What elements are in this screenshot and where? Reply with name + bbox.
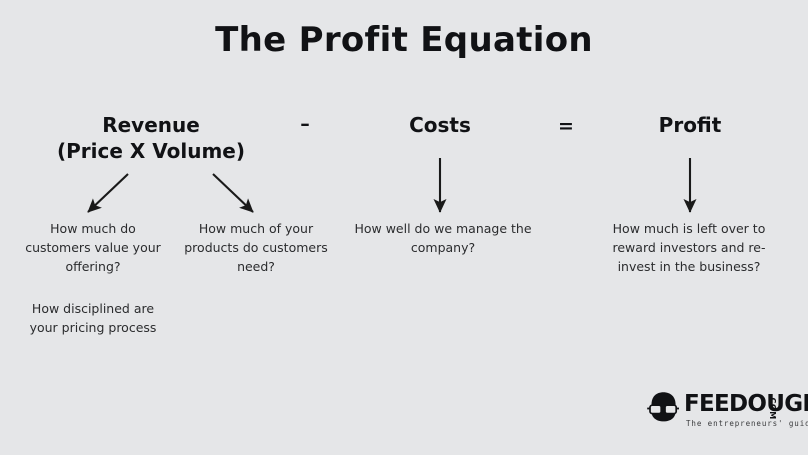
face-with-glasses-icon [646,391,682,423]
caption-profit: How much is left over to reward investor… [596,219,782,276]
caption-price: How much do customers value your offerin… [18,219,168,276]
slide-canvas: The Profit Equation Revenue (Price X Vol… [0,0,808,455]
equation-term-profit: Profit [600,112,780,138]
equals-operator: = [544,115,588,137]
logo-tld: .COM [768,394,777,420]
equation-term-costs: Costs [350,112,530,138]
page-title: The Profit Equation [0,20,808,60]
logo-wordmark: FEEDOUGH [684,393,808,416]
revenue-formula: (Price X Volume) [26,138,276,164]
caption-costs: How well do we manage the company? [348,219,538,257]
costs-label: Costs [350,112,530,138]
logo-tagline: The entrepreneurs' guide [686,419,808,428]
minus-operator: – [283,113,327,135]
equation-term-revenue: Revenue (Price X Volume) [26,112,276,165]
arrow-revenue-to-volume [213,174,253,212]
profit-label: Profit [600,112,780,138]
brand-logo[interactable]: FEEDOUGH .COM The entrepreneurs' guide [646,390,792,432]
arrow-revenue-to-price [88,174,128,212]
revenue-label: Revenue [26,112,276,138]
caption-volume: How much of your products do customers n… [178,219,334,276]
caption-pricing: How disciplined are your pricing process [18,299,168,337]
